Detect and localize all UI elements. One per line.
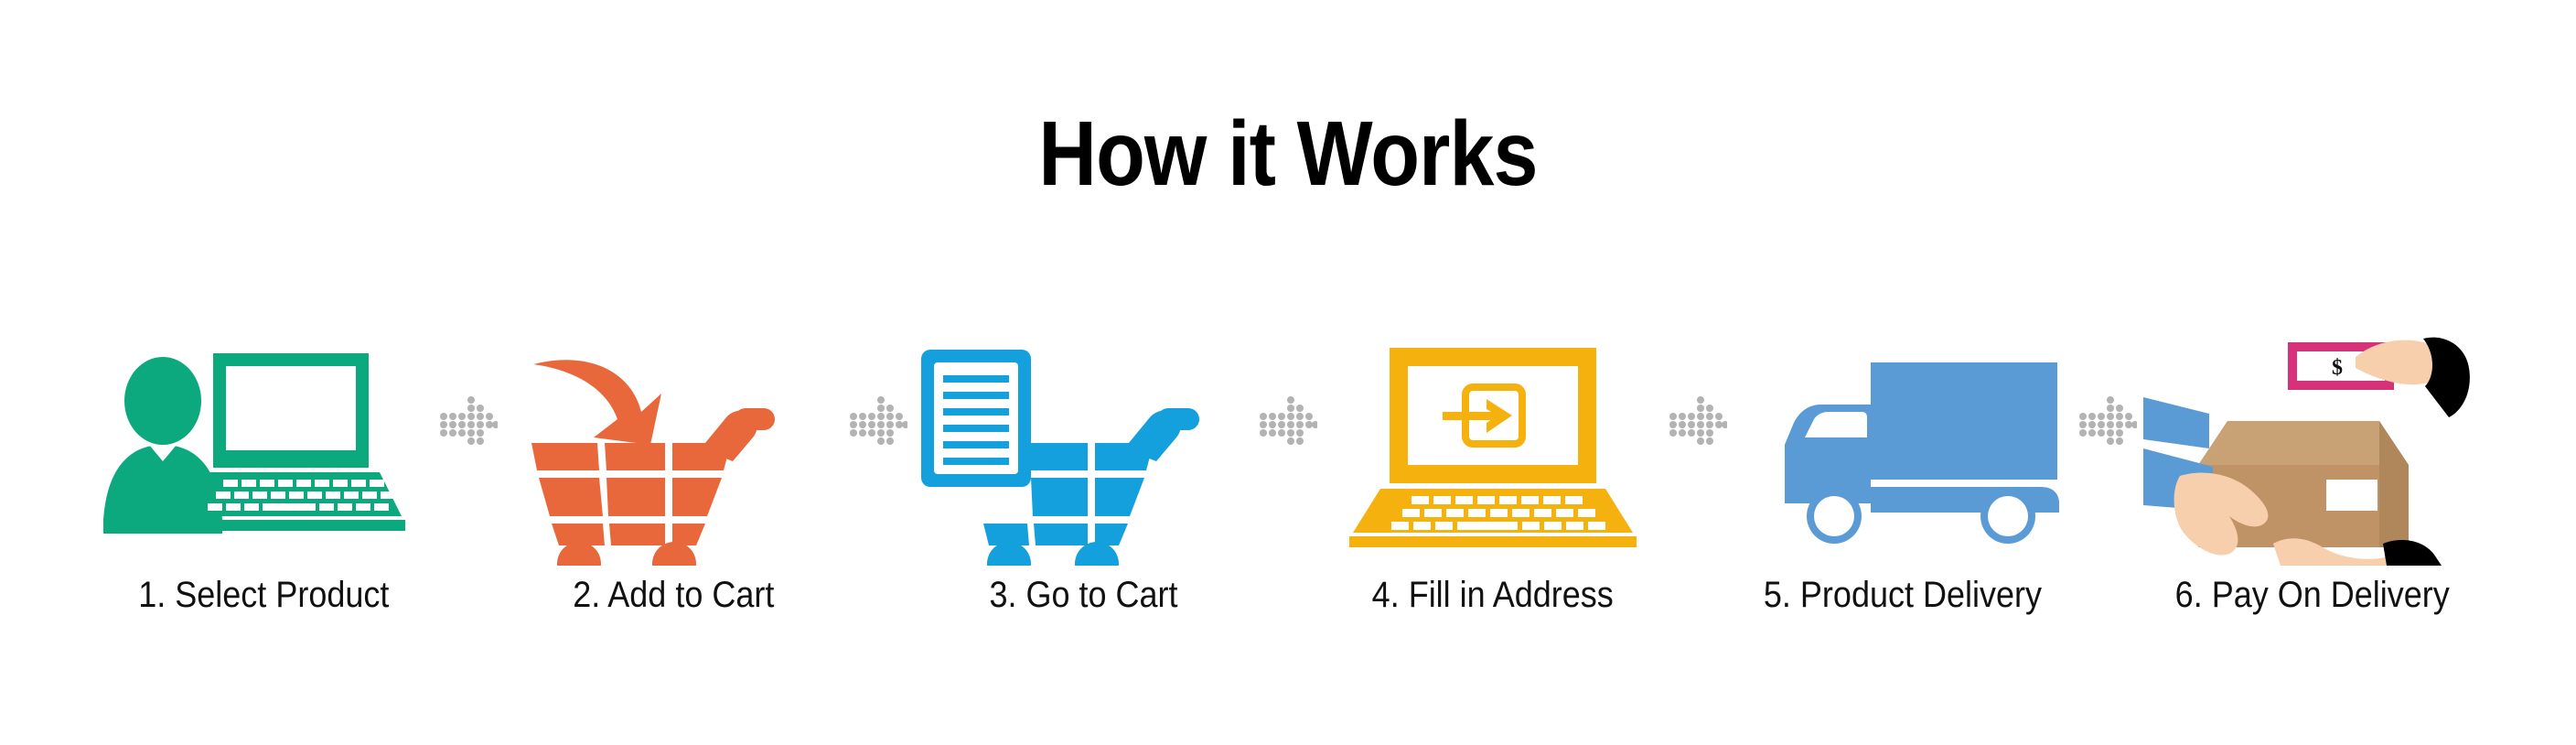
- laptop-with-enter-arrow-icon: [1324, 337, 1662, 566]
- step-label: 4. Fill in Address: [1372, 577, 1614, 613]
- step-5-product-delivery[interactable]: 5. Product Delivery: [1733, 302, 2072, 613]
- step-label: 2. Add to Cart: [573, 577, 774, 613]
- step-3-go-to-cart[interactable]: 3. Go to Cart: [914, 302, 1252, 613]
- step-1-select-product[interactable]: 1. Select Product: [94, 302, 433, 613]
- dotted-right-arrow-icon: [1252, 302, 1324, 613]
- step-label: 5. Product Delivery: [1764, 577, 2042, 613]
- shopping-cart-with-curved-arrow-icon: [504, 337, 843, 566]
- dotted-right-arrow-icon: [2072, 302, 2143, 613]
- dotted-right-arrow-icon: [843, 302, 914, 613]
- how-it-works-infographic: How it Works: [0, 0, 2576, 745]
- step-label: 1. Select Product: [138, 577, 389, 613]
- page-title: How it Works: [155, 108, 2421, 200]
- svg-text:$: $: [2332, 356, 2343, 380]
- step-2-add-to-cart[interactable]: 2. Add to Cart: [504, 302, 843, 613]
- dotted-right-arrow-icon: [1662, 302, 1733, 613]
- hands-exchanging-box-and-cash-icon: $: [2143, 337, 2482, 566]
- step-label: 3. Go to Cart: [989, 577, 1177, 613]
- step-4-fill-in-address[interactable]: 4. Fill in Address: [1324, 302, 1662, 613]
- step-label: 6. Pay On Delivery: [2175, 577, 2450, 613]
- steps-strip: 1. Select Product: [0, 302, 2576, 613]
- dotted-right-arrow-icon: [433, 302, 504, 613]
- step-6-pay-on-delivery[interactable]: $: [2143, 302, 2482, 613]
- document-with-shopping-cart-icon: [914, 337, 1252, 566]
- person-with-laptop-icon: [94, 337, 433, 566]
- delivery-truck-icon: [1733, 337, 2072, 566]
